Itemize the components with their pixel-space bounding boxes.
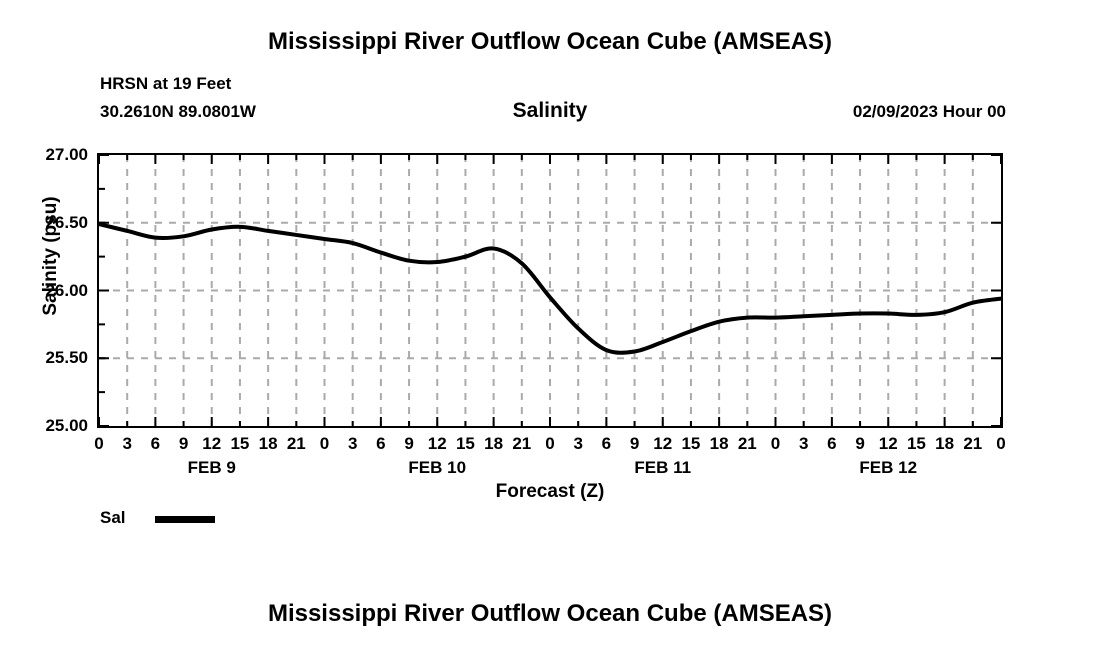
x-tick-label: 3 <box>338 434 368 454</box>
y-tick-label: 27.00 <box>18 145 88 165</box>
x-tick-label: 6 <box>817 434 847 454</box>
y-tick-label: 26.00 <box>18 281 88 301</box>
legend-swatch-sal <box>155 516 215 523</box>
x-tick-label: 0 <box>986 434 1016 454</box>
day-label: FEB 10 <box>377 458 497 478</box>
x-tick-label: 12 <box>873 434 903 454</box>
x-tick-label: 21 <box>281 434 311 454</box>
x-tick-label: 21 <box>732 434 762 454</box>
y-tick-label: 25.00 <box>18 416 88 436</box>
day-label: FEB 12 <box>828 458 948 478</box>
x-tick-label: 9 <box>620 434 650 454</box>
y-tick-label: 25.50 <box>18 348 88 368</box>
x-tick-label: 15 <box>225 434 255 454</box>
x-tick-label: 6 <box>366 434 396 454</box>
x-tick-label: 9 <box>845 434 875 454</box>
model-run-time: 02/09/2023 Hour 00 <box>853 102 1006 122</box>
x-tick-label: 18 <box>930 434 960 454</box>
x-tick-label: 15 <box>450 434 480 454</box>
x-tick-label: 0 <box>310 434 340 454</box>
x-tick-label: 9 <box>169 434 199 454</box>
left-axis-ticks <box>99 155 109 426</box>
x-tick-label: 21 <box>507 434 537 454</box>
x-tick-label: 15 <box>676 434 706 454</box>
x-tick-label: 18 <box>704 434 734 454</box>
y-tick-label: 26.50 <box>18 213 88 233</box>
x-tick-label: 0 <box>535 434 565 454</box>
salinity-line-chart <box>99 155 1001 426</box>
page-title-top: Mississippi River Outflow Ocean Cube (AM… <box>0 28 1100 56</box>
y-axis-title: Salinity (psu) <box>40 161 62 351</box>
x-tick-label: 6 <box>591 434 621 454</box>
x-tick-label: 6 <box>140 434 170 454</box>
x-tick-label: 0 <box>84 434 114 454</box>
x-tick-label: 3 <box>789 434 819 454</box>
bottom-axis-ticks <box>99 417 1001 426</box>
legend-label-sal: Sal <box>100 508 126 528</box>
station-depth-label: HRSN at 19 Feet <box>100 74 231 94</box>
x-tick-label: 21 <box>958 434 988 454</box>
x-tick-label: 0 <box>761 434 791 454</box>
x-tick-label: 18 <box>479 434 509 454</box>
x-tick-label: 12 <box>648 434 678 454</box>
day-label: FEB 9 <box>152 458 272 478</box>
x-axis-title: Forecast (Z) <box>0 481 1100 503</box>
x-tick-label: 3 <box>112 434 142 454</box>
x-tick-label: 18 <box>253 434 283 454</box>
page-title-bottom: Mississippi River Outflow Ocean Cube (AM… <box>0 600 1100 628</box>
x-tick-label: 9 <box>394 434 424 454</box>
top-axis-ticks <box>99 155 1001 164</box>
x-tick-label: 12 <box>422 434 452 454</box>
x-tick-label: 12 <box>197 434 227 454</box>
x-tick-label: 15 <box>901 434 931 454</box>
right-axis-ticks <box>991 155 1001 426</box>
day-label: FEB 11 <box>603 458 723 478</box>
plot-area <box>97 153 1003 428</box>
x-tick-label: 3 <box>563 434 593 454</box>
